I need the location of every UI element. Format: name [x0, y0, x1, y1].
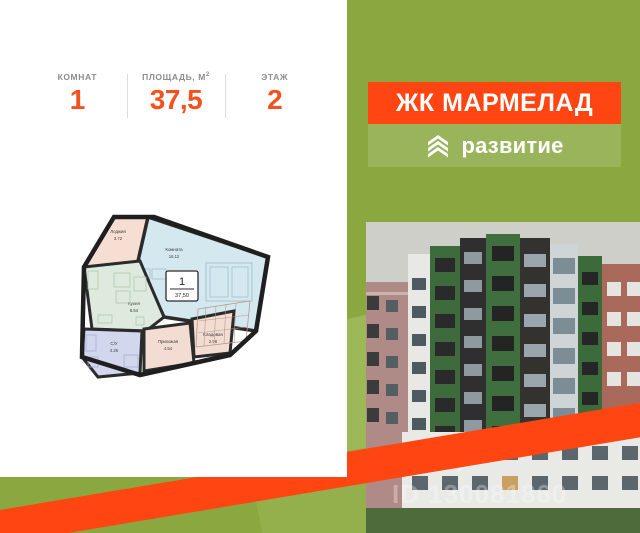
apartment-stats: КОМНАТ 1 ПЛОЩАДЬ, М2 37,5 ЭТАЖ 2	[28, 72, 324, 116]
chevrons-up-icon	[425, 134, 451, 158]
brand-title-bar: ЖК МАРМЕЛАД	[368, 82, 621, 124]
stat-area: ПЛОЩАДЬ, М2 37,5	[127, 72, 226, 116]
plan-room-prihozhaya-name: Прихожая	[158, 339, 179, 344]
plan-room-sanuzel-name: С/У	[110, 341, 117, 346]
stat-rooms-value: 1	[28, 84, 127, 116]
plan-room-prihozhaya-area: 4.54	[164, 346, 173, 351]
stat-floor-value: 2	[225, 84, 324, 116]
plan-room-komnata-area: 16.12	[169, 254, 180, 259]
plan-room-kladovaya-name: Кладовая	[203, 332, 223, 337]
brand-subtitle-bar: развитие	[368, 124, 621, 167]
plan-room-kladovaya: Кладовая 2.98	[192, 311, 234, 357]
floor-plan-svg: Лоджия 3.72 Комната 16.12	[78, 205, 318, 405]
listing-card-image: иан ID 130081860 КОМНАТ 1 ПЛОЩАДЬ, М2 37…	[0, 0, 640, 533]
plan-room-sanuzel: С/У 4.26	[82, 329, 142, 377]
plan-room-sanuzel-area: 4.26	[110, 348, 119, 353]
plan-room-kladovaya-area: 2.98	[209, 339, 218, 344]
stat-rooms: КОМНАТ 1	[28, 72, 127, 116]
floor-plan: Лоджия 3.72 Комната 16.12	[78, 205, 318, 405]
plan-room-kuhnya-area: 8.54	[130, 308, 139, 313]
plan-card: КОМНАТ 1 ПЛОЩАДЬ, М2 37,5 ЭТАЖ 2 Лоджия …	[0, 0, 347, 477]
plan-badge-area: 37,50	[175, 293, 189, 299]
stat-rooms-label: КОМНАТ	[28, 72, 127, 82]
brand-panel: ЖК МАРМЕЛАД развитие	[368, 82, 621, 167]
stat-area-label: ПЛОЩАДЬ, М2	[127, 72, 226, 82]
plan-badge-rooms: 1	[179, 276, 185, 288]
stat-floor-label: ЭТАЖ	[225, 72, 324, 82]
stat-area-value: 37,5	[127, 84, 226, 116]
stat-floor: ЭТАЖ 2	[225, 72, 324, 116]
building-photo	[366, 222, 640, 533]
landscaping	[366, 508, 640, 533]
plan-area-badge: 1 37,50	[166, 271, 198, 301]
brand-subtitle: развитие	[461, 133, 563, 159]
building-render	[366, 222, 640, 533]
plan-room-komnata-name: Комната	[165, 247, 183, 252]
plan-room-loggia-area: 3.72	[114, 236, 123, 241]
plan-room-loggia-name: Лоджия	[110, 229, 126, 234]
brand-title: ЖК МАРМЕЛАД	[396, 89, 593, 118]
